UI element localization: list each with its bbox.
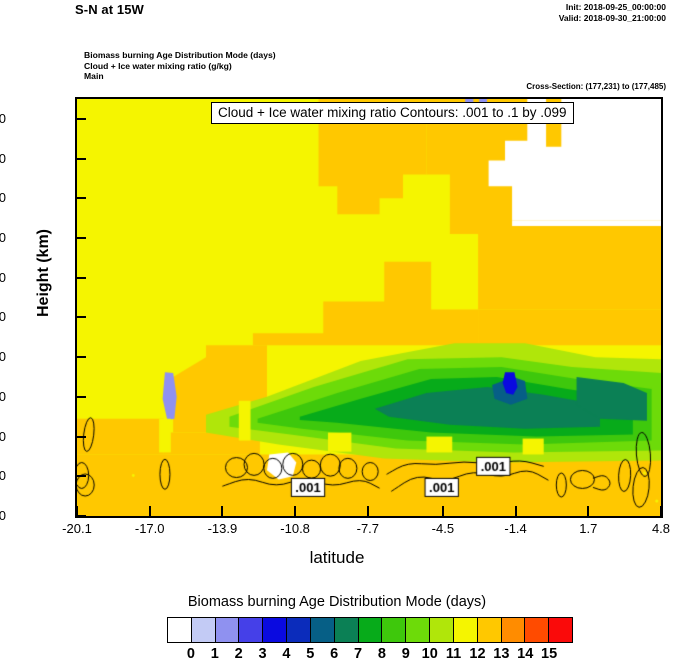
colorbar-swatch: [549, 618, 572, 642]
cross-section-plot: Cloud + Ice water mixing ratio Contours:…: [75, 97, 663, 518]
colorbar-swatch: [311, 618, 335, 642]
x-tick-label: -7.7: [328, 521, 408, 536]
run-time-metadata: Init: 2018-09-25_00:00:00 Valid: 2018-09…: [559, 2, 666, 24]
colorbar: [167, 617, 573, 643]
colorbar-swatch: [406, 618, 430, 642]
y-axis-label: Height (km): [35, 183, 53, 363]
domain-label: Main: [84, 71, 276, 82]
y-tick-mark: [75, 118, 86, 120]
y-tick-label: 3.0: [0, 389, 6, 404]
x-axis-label: latitude: [0, 548, 674, 568]
x-tick-mark: [442, 506, 444, 517]
colorbar-swatch: [430, 618, 454, 642]
variable-annotation-block: Biomass burning Age Distribution Mode (d…: [84, 50, 276, 82]
x-tick-label: -17.0: [110, 521, 190, 536]
filled-contour-field: [77, 99, 661, 516]
y-tick-mark: [75, 396, 86, 398]
colorbar-swatch: [335, 618, 359, 642]
y-tick-label: 0.0: [0, 508, 6, 523]
y-tick-mark: [75, 158, 86, 160]
y-tick-label: 2.0: [0, 429, 6, 444]
x-tick-label: -4.5: [403, 521, 483, 536]
y-tick-mark: [75, 356, 86, 358]
colorbar-tick-labels: 0123456789101112131415: [167, 646, 573, 666]
colorbar-swatch: [502, 618, 526, 642]
x-tick-label: -10.8: [255, 521, 335, 536]
y-tick-label: 1.0: [0, 468, 6, 483]
colorbar-title: Biomass burning Age Distribution Mode (d…: [0, 594, 674, 610]
y-tick-label: 8.0: [0, 190, 6, 205]
y-tick-label: 7.0: [0, 230, 6, 245]
colorbar-tick-label: 15: [529, 646, 569, 662]
cross-section-endpoints: Cross-Section: (177,231) to (177,485): [526, 82, 666, 91]
x-tick-label: -1.4: [476, 521, 556, 536]
colorbar-swatch: [192, 618, 216, 642]
valid-time: Valid: 2018-09-30_21:00:00: [559, 13, 666, 24]
x-tick-mark: [294, 506, 296, 517]
colorbar-swatch: [454, 618, 478, 642]
y-tick-label: 6.0: [0, 270, 6, 285]
variable-contour-label: Cloud + Ice water mixing ratio (g/kg): [84, 61, 276, 72]
x-tick-mark: [515, 506, 517, 517]
y-tick-mark: [75, 316, 86, 318]
x-tick-mark: [149, 506, 151, 517]
contour-banner: Cloud + Ice water mixing ratio Contours:…: [211, 102, 574, 124]
colorbar-swatch: [478, 618, 502, 642]
y-tick-label: 5.0: [0, 309, 6, 324]
y-tick-label: 9.0: [0, 151, 6, 166]
colorbar-swatch: [263, 618, 287, 642]
x-tick-mark: [367, 506, 369, 517]
y-tick-mark: [75, 277, 86, 279]
x-tick-mark: [76, 506, 78, 517]
variable-fill-label: Biomass burning Age Distribution Mode (d…: [84, 50, 276, 61]
colorbar-swatch: [525, 618, 549, 642]
x-tick-mark: [221, 506, 223, 517]
colorbar-swatch: [239, 618, 263, 642]
colorbar-swatch: [216, 618, 240, 642]
y-tick-label: 10.0: [0, 111, 6, 126]
colorbar-swatch: [359, 618, 383, 642]
init-time: Init: 2018-09-25_00:00:00: [559, 2, 666, 13]
x-tick-label: 1.7: [548, 521, 628, 536]
x-tick-label: -13.9: [182, 521, 262, 536]
y-tick-mark: [75, 436, 86, 438]
y-tick-mark: [75, 237, 86, 239]
x-tick-label: -20.1: [37, 521, 117, 536]
page-title: S-N at 15W: [75, 2, 144, 17]
y-tick-mark: [75, 197, 86, 199]
colorbar-swatch: [168, 618, 192, 642]
x-tick-mark: [660, 506, 662, 517]
y-tick-label: 4.0: [0, 349, 6, 364]
x-tick-label: 4.8: [621, 521, 674, 536]
colorbar-swatch: [382, 618, 406, 642]
y-tick-mark: [75, 475, 86, 477]
x-tick-mark: [587, 506, 589, 517]
colorbar-swatch: [287, 618, 311, 642]
